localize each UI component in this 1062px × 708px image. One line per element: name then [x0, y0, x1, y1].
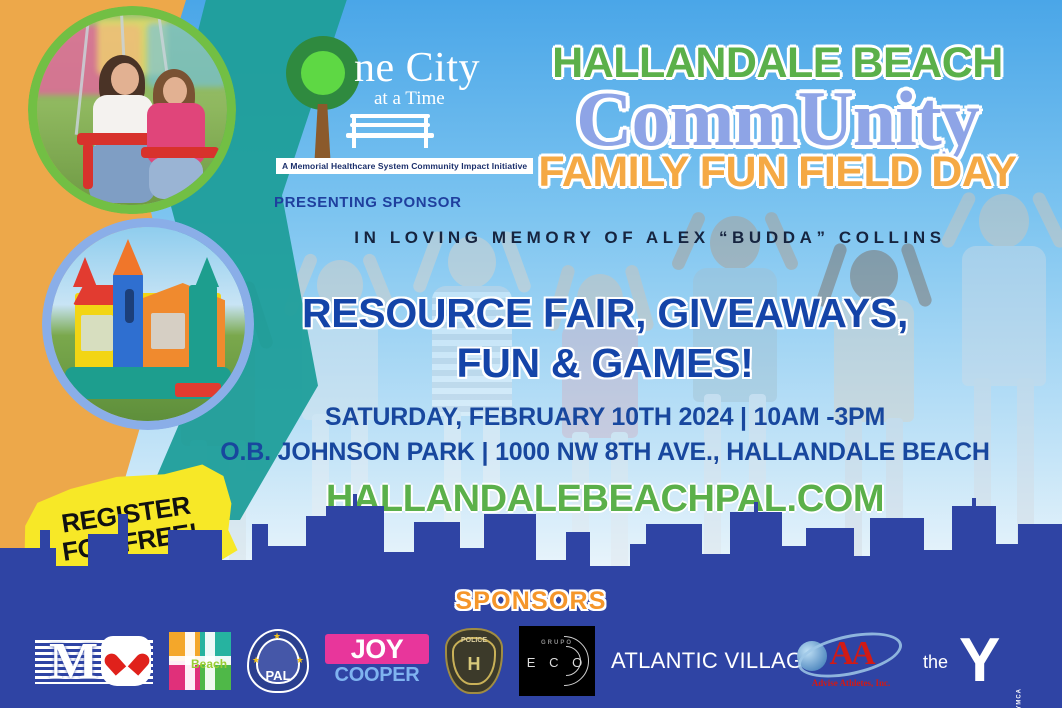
one-city-subtitle: at a Time — [374, 88, 445, 110]
activities-line-1: RESOURCE FAIR, GIVEAWAYS, — [200, 288, 1010, 338]
activities-line-2: FUN & GAMES! — [200, 338, 1010, 388]
heart-icon — [114, 650, 140, 674]
event-flyer: ne City at a Time A Memorial Healthcare … — [0, 0, 1062, 708]
headline-block: HALLANDALE BEACH CommUnity FAMILY FUN FI… — [505, 42, 1050, 194]
ymca-vertical-label: YMCA — [1017, 688, 1023, 708]
bench-icon — [346, 114, 434, 152]
atlantic-village-label: ATLANTIC VILLAGE — [611, 648, 818, 674]
sponsor-logo-advise-athletes[interactable]: AA Advise Athletes, Inc. — [795, 629, 907, 693]
hallandale-beach-label: Beach — [191, 657, 227, 671]
one-city-tagline: A Memorial Healthcare System Community I… — [276, 158, 533, 174]
eco-label: E C O — [519, 655, 595, 670]
sponsor-logo-joy-cooper[interactable]: JOY COOPER — [325, 632, 429, 690]
star-icon: ★ — [296, 655, 304, 666]
y-letter-icon: Y — [959, 632, 1021, 690]
sponsor-logo-grupo-eco[interactable]: GRUPO E C O — [519, 626, 595, 696]
event-location: O.B. JOHNSON PARK | 1000 NW 8TH AVE., HA… — [200, 435, 1010, 470]
star-icon: ★ — [252, 655, 260, 666]
sponsor-logo-memorial-healthcare[interactable]: M — [35, 630, 153, 692]
pal-label: PAL — [247, 668, 309, 683]
police-top-text: POLICE — [445, 637, 503, 644]
the-label: the — [923, 652, 948, 673]
star-icon: ★ — [273, 631, 281, 642]
joy-text: JOY — [325, 634, 429, 664]
headline-community: CommUnity — [505, 83, 1050, 155]
aa-mark: AA — [795, 635, 907, 673]
sponsor-logo-row: M Beach ★ ★ ★ PAL JOY COOPER POLICE H — [0, 618, 1062, 704]
sponsor-logo-pal[interactable]: ★ ★ ★ PAL — [247, 629, 309, 693]
sponsor-logo-atlantic-village[interactable]: ATLANTIC VILLAGE — [611, 644, 779, 678]
sponsor-logo-police[interactable]: POLICE H — [445, 628, 503, 694]
event-datetime: SATURDAY, FEBRUARY 10TH 2024 | 10AM -3PM — [200, 400, 1010, 435]
police-h-letter: H — [445, 654, 503, 675]
sponsor-logo-ymca[interactable]: the Y YMCA — [923, 630, 1027, 692]
memorial-m-letter: M — [49, 636, 98, 688]
event-details-block: RESOURCE FAIR, GIVEAWAYS, FUN & GAMES! S… — [200, 288, 1010, 521]
presenting-sponsor-label: PRESENTING SPONSOR — [274, 194, 462, 211]
headline-event: FAMILY FUN FIELD DAY — [505, 151, 1050, 194]
tree-icon — [286, 36, 360, 110]
swing-ride-photo — [28, 6, 236, 214]
sponsor-logo-hallandale-beach[interactable]: Beach — [169, 632, 231, 690]
cooper-text: COOPER — [325, 664, 429, 687]
advise-athletes-label: Advise Athletes, Inc. — [795, 678, 907, 688]
memorial-dedication: IN LOVING MEMORY OF ALEX “BUDDA” COLLINS — [300, 228, 1000, 248]
sponsors-heading: SPONSORS — [0, 587, 1062, 616]
one-city-at-a-time-logo: ne City at a Time A Memorial Healthcare … — [278, 30, 510, 180]
one-city-wordmark: ne City — [354, 44, 480, 92]
grupo-label: GRUPO — [519, 640, 595, 646]
